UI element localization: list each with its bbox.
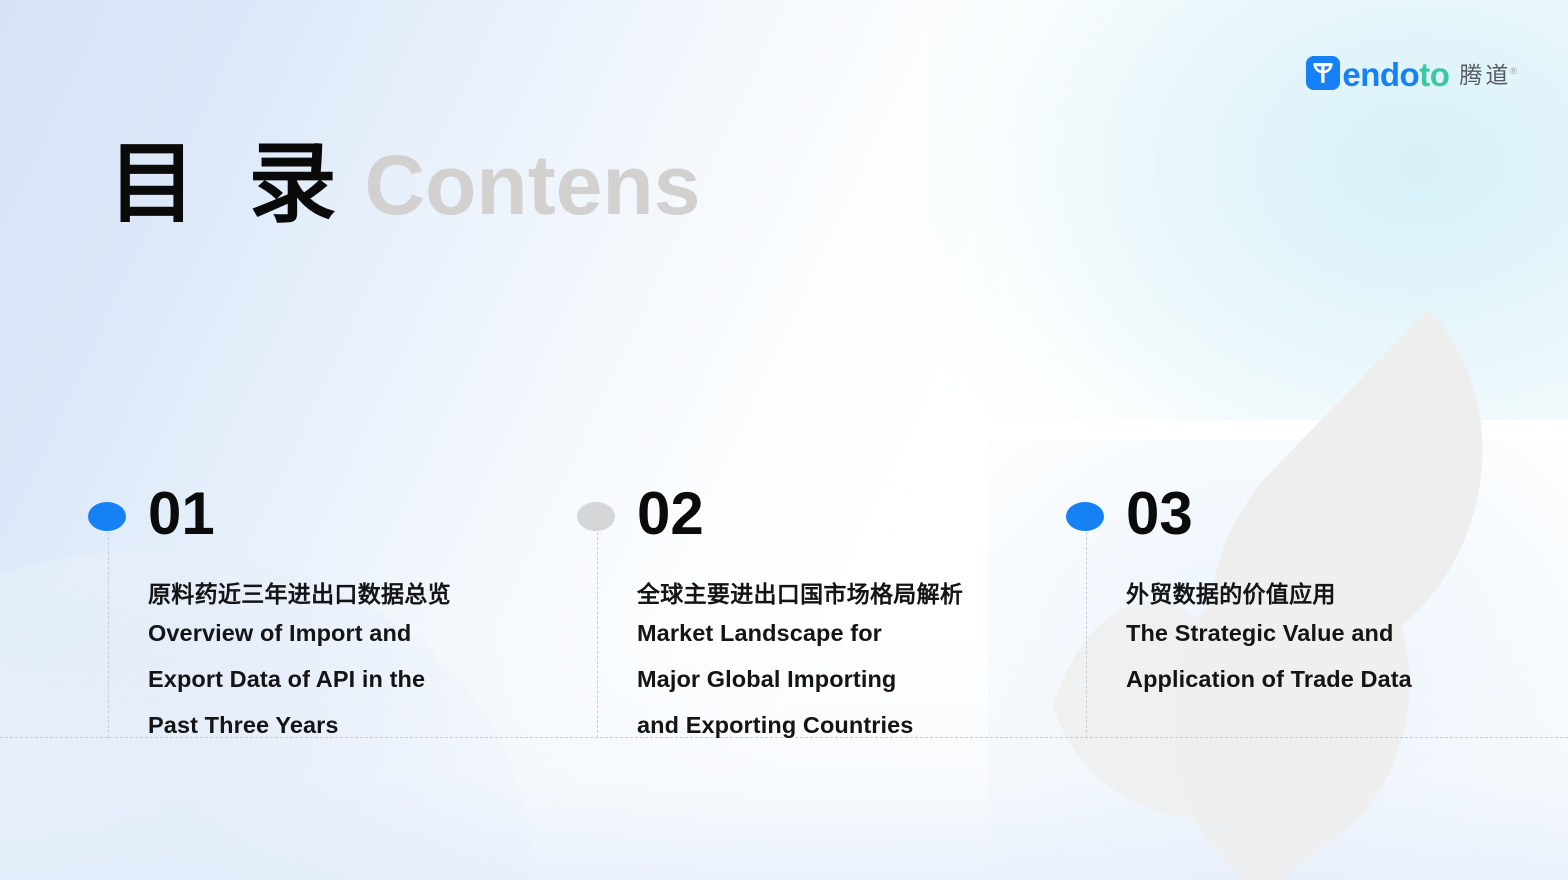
- contents-item-03[interactable]: 03 外贸数据的价值应用 The Strategic Value and App…: [1066, 478, 1536, 702]
- bullet-dot-icon: [577, 502, 615, 531]
- contents-item-title-en-line: Market Landscape for: [637, 610, 1047, 656]
- contents-item-title-en-line: Major Global Importing: [637, 656, 1047, 702]
- contents-list: 01 原料药近三年进出口数据总览 Overview of Import and …: [0, 0, 1568, 880]
- contents-item-number: 01: [148, 484, 215, 544]
- contents-item-title-en-line: Export Data of API in the: [148, 656, 558, 702]
- contents-item-01[interactable]: 01 原料药近三年进出口数据总览 Overview of Import and …: [88, 478, 558, 748]
- contents-item-title-en-line: The Strategic Value and: [1126, 610, 1536, 656]
- contents-item-02[interactable]: 02 全球主要进出口国市场格局解析 Market Landscape for M…: [577, 478, 1047, 748]
- contents-item-title-en-line: Past Three Years: [148, 702, 558, 748]
- contents-item-header: 01: [88, 478, 558, 550]
- contents-item-title-en-line: Application of Trade Data: [1126, 656, 1536, 702]
- contents-item-title-en-line: and Exporting Countries: [637, 702, 1047, 748]
- contents-item-header: 02: [577, 478, 1047, 550]
- contents-item-number: 02: [637, 484, 704, 544]
- bullet-dot-icon: [1066, 502, 1104, 531]
- bullet-dot-icon: [88, 502, 126, 531]
- contents-item-title-cn: 原料药近三年进出口数据总览: [148, 580, 558, 610]
- contents-item-body: 原料药近三年进出口数据总览 Overview of Import and Exp…: [148, 580, 558, 748]
- contents-item-header: 03: [1066, 478, 1536, 550]
- contents-item-title-cn: 外贸数据的价值应用: [1126, 580, 1536, 610]
- contents-item-body: 外贸数据的价值应用 The Strategic Value and Applic…: [1126, 580, 1536, 702]
- contents-slide: endoto 腾道® 目 录 Contens 01 原料药近三年进出口数据总览 …: [0, 0, 1568, 880]
- contents-item-title-cn: 全球主要进出口国市场格局解析: [637, 580, 1047, 610]
- contents-item-title-en-line: Overview of Import and: [148, 610, 558, 656]
- contents-item-body: 全球主要进出口国市场格局解析 Market Landscape for Majo…: [637, 580, 1047, 748]
- contents-item-number: 03: [1126, 484, 1193, 544]
